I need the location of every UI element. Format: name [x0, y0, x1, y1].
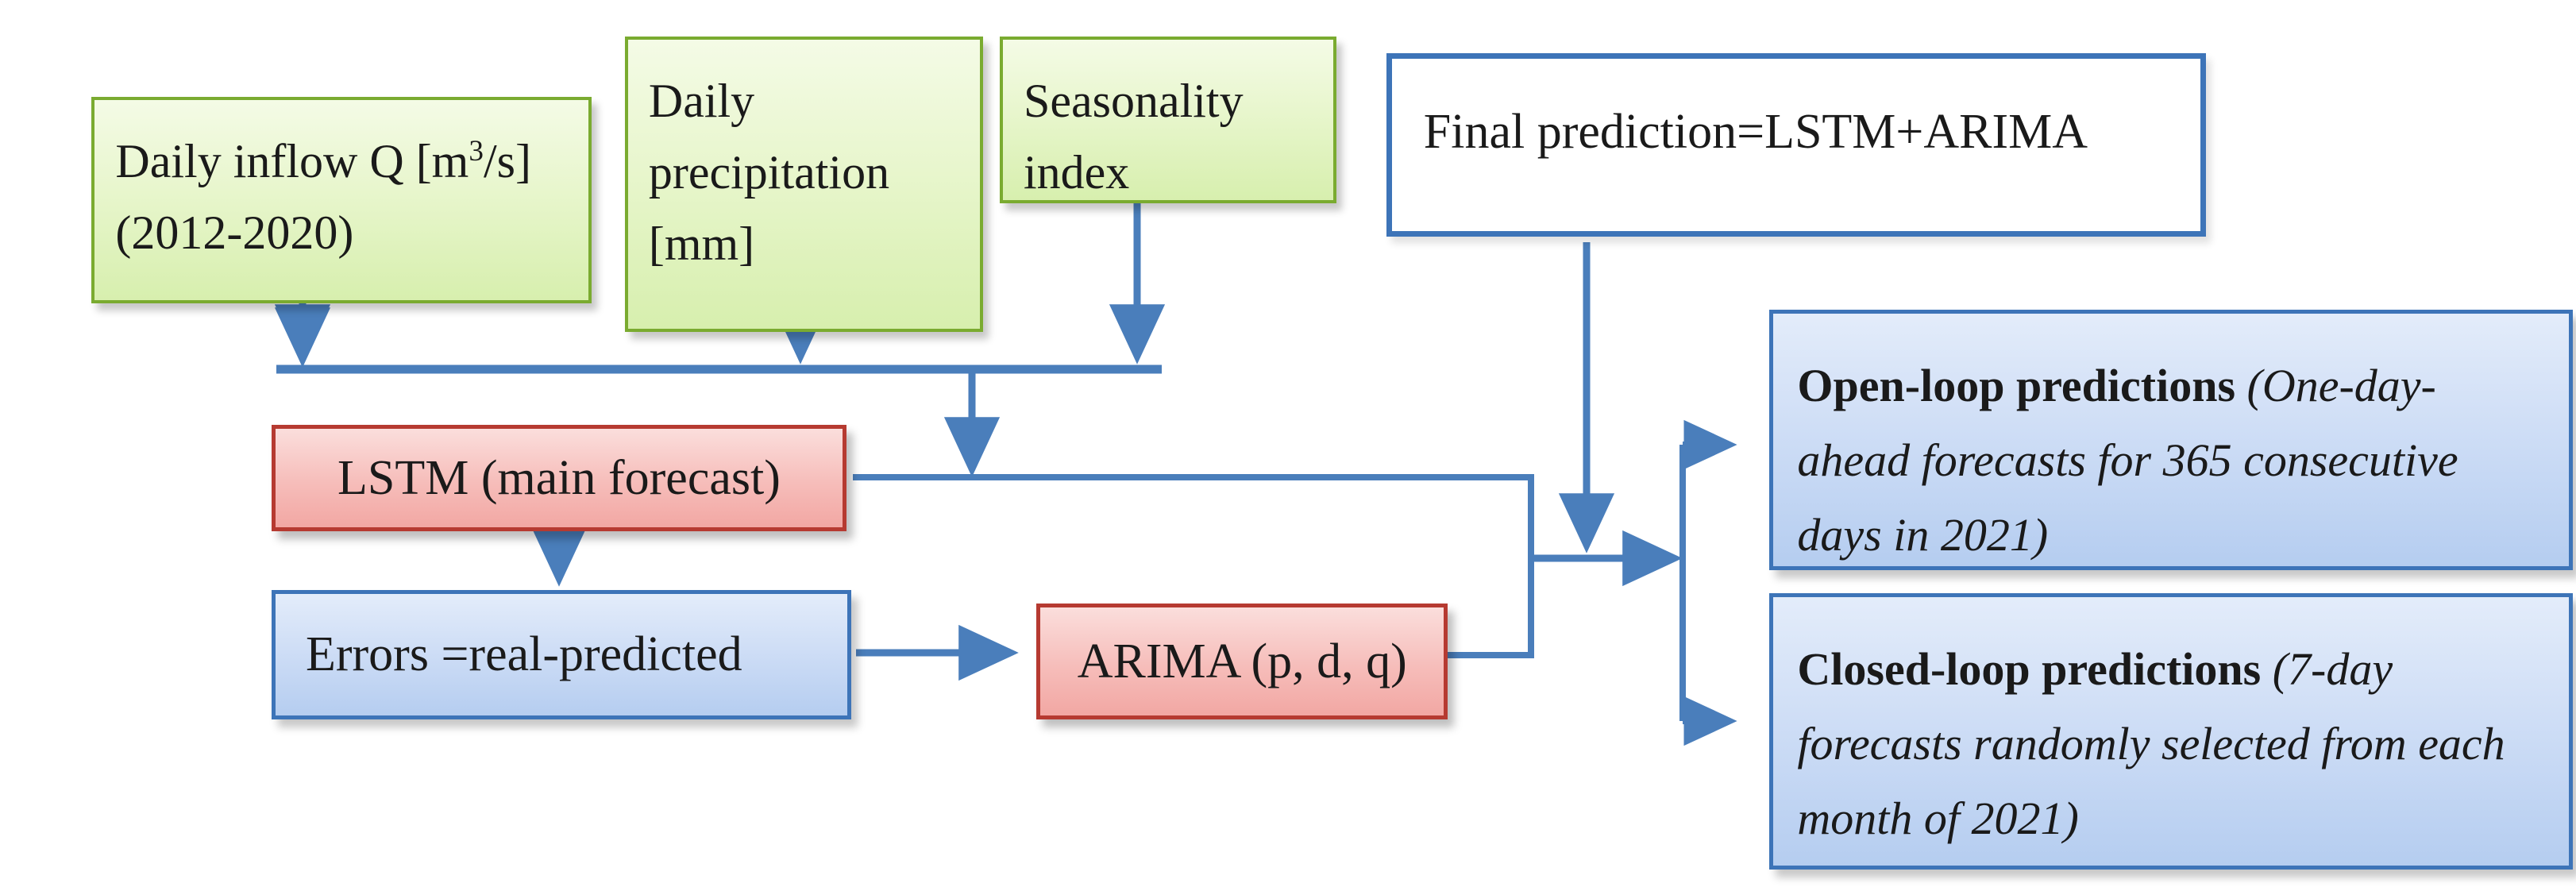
node-seasonality-index-label: Seasonalityindex: [1024, 48, 1244, 208]
flowchart-canvas: Daily inflow Q [m3/s](2012-2020) Dailypr…: [0, 0, 2576, 887]
node-arima[interactable]: ARIMA (p, d, q): [1036, 604, 1448, 720]
node-lstm-label: LSTM (main forecast): [337, 442, 781, 515]
node-final-prediction-label: Final prediction=LSTM+ARIMA: [1424, 95, 2088, 169]
node-final-prediction[interactable]: Final prediction=LSTM+ARIMA: [1386, 53, 2206, 237]
edge-arima-to-merge: [1441, 558, 1531, 655]
node-closed-loop-label: Closed-loop predictions (7-day forecasts…: [1797, 611, 2544, 856]
node-errors[interactable]: Errors =real-predicted: [272, 590, 851, 720]
node-open-loop-label: Open-loop predictions (One-day-ahead for…: [1797, 328, 2544, 573]
node-daily-precipitation-label: Dailyprecipitation[mm]: [649, 48, 889, 280]
node-errors-label: Errors =real-predicted: [306, 618, 742, 692]
node-arima-label: ARIMA (p, d, q): [1078, 625, 1407, 699]
node-closed-loop[interactable]: Closed-loop predictions (7-day forecasts…: [1769, 593, 2572, 870]
node-daily-precipitation[interactable]: Dailyprecipitation[mm]: [625, 37, 983, 331]
node-open-loop[interactable]: Open-loop predictions (One-day-ahead for…: [1769, 310, 2572, 569]
edge-lstm-to-merge: [853, 477, 1531, 558]
node-seasonality-index[interactable]: Seasonalityindex: [1000, 37, 1336, 203]
node-daily-inflow[interactable]: Daily inflow Q [m3/s](2012-2020): [91, 97, 591, 303]
node-daily-inflow-label: Daily inflow Q [m3/s](2012-2020): [115, 108, 531, 268]
node-lstm[interactable]: LSTM (main forecast): [272, 425, 846, 531]
